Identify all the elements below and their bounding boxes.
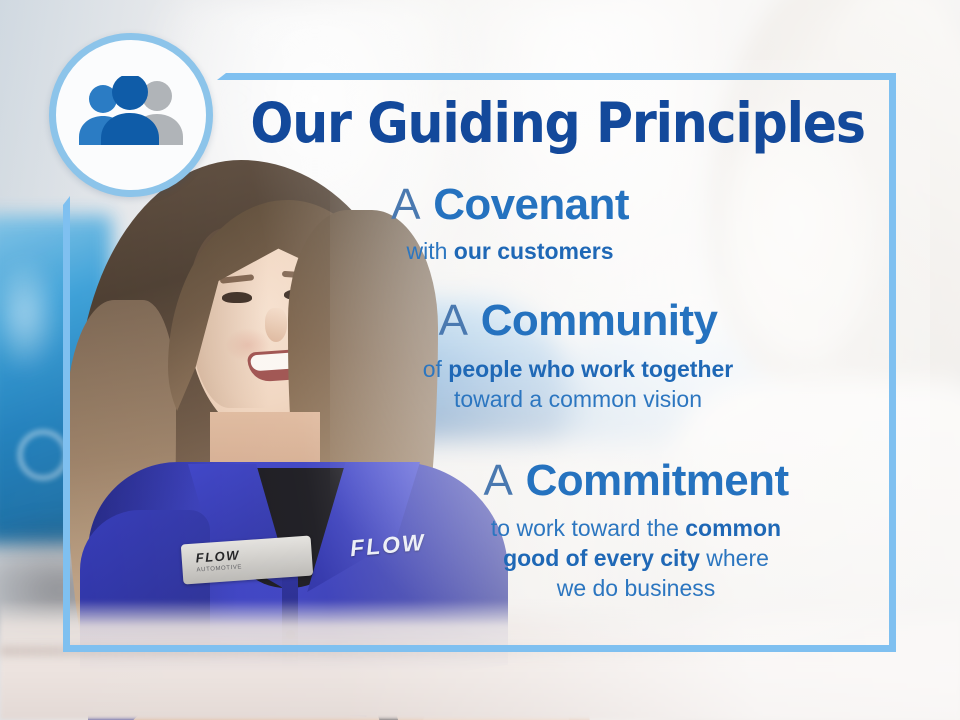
principle-subtext-community: of people who work togethertoward a comm… — [228, 355, 928, 415]
page-title: Our Guiding Principles — [250, 96, 857, 151]
principle-article: A — [484, 456, 514, 505]
plain-text: where — [700, 545, 769, 571]
emphasis-text: common — [685, 515, 781, 541]
principle-heading-commitment: A Commitment — [286, 458, 960, 504]
plain-text: we do business — [557, 575, 716, 601]
principle-keyword: Commitment — [526, 456, 789, 505]
principle-subtext-line: good of every city where — [286, 544, 960, 574]
principle-article: A — [391, 180, 421, 229]
people-badge — [49, 33, 213, 197]
emphasis-text: good of every city — [503, 545, 700, 571]
principle-subtext-line: with our customers — [160, 237, 860, 267]
principle-article: A — [439, 296, 469, 345]
plain-text: toward a common vision — [454, 386, 702, 412]
emphasis-text: our customers — [454, 238, 614, 264]
promotional-graphic: FLOW FLOW AUTOMOTIVE — [0, 0, 960, 720]
plain-text: of — [423, 356, 449, 382]
emphasis-text: people who work together — [448, 356, 733, 382]
principle-keyword: Covenant — [433, 180, 629, 229]
principle-subtext-commitment: to work toward the commongood of every c… — [286, 514, 960, 604]
principle-block-covenant: A Covenant with our customers — [160, 182, 860, 267]
principle-block-community: A Community of people who work togethert… — [228, 298, 928, 415]
principle-subtext-line: of people who work together — [228, 355, 928, 385]
principle-subtext-covenant: with our customers — [160, 237, 860, 267]
plain-text: to work toward the — [491, 515, 685, 541]
principle-heading-covenant: A Covenant — [160, 182, 860, 228]
principle-subtext-line: to work toward the common — [286, 514, 960, 544]
plain-text: with — [406, 238, 453, 264]
principle-subtext-line: we do business — [286, 574, 960, 604]
principle-keyword: Community — [481, 296, 718, 345]
principle-subtext-line: toward a common vision — [228, 385, 928, 415]
text-content: Our Guiding Principles A Covenant with o… — [200, 0, 900, 720]
principle-heading-community: A Community — [228, 298, 928, 344]
principle-block-commitment: A Commitment to work toward the commongo… — [286, 458, 960, 603]
people-group-icon — [77, 76, 185, 154]
